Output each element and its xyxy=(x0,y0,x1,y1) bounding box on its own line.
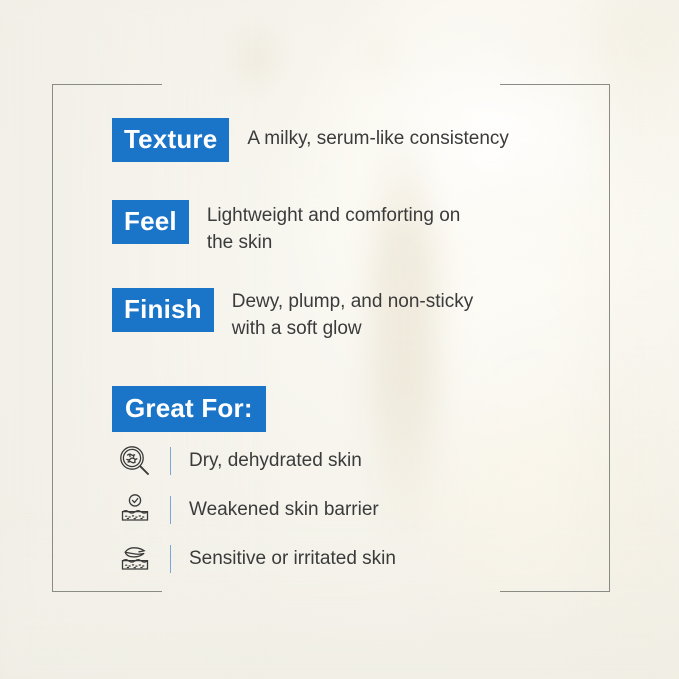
skin-barrier-check-icon xyxy=(112,490,158,530)
great-for-list: Dry, dehydrated skin Weakened skin barri… xyxy=(112,436,532,583)
attribute-badge-finish: Finish xyxy=(112,288,214,332)
list-item-divider xyxy=(170,496,171,524)
sensitive-skin-leaf-icon xyxy=(112,539,158,579)
list-item-label: Dry, dehydrated skin xyxy=(189,449,362,473)
list-item: Sensitive or irritated skin xyxy=(112,534,532,583)
attribute-description-finish: Dewy, plump, and non-sticky with a soft … xyxy=(232,288,473,342)
card-content: Texture A milky, serum-like consistency … xyxy=(0,0,679,679)
list-item-divider xyxy=(170,447,171,475)
attribute-row-finish: Finish Dewy, plump, and non-sticky with … xyxy=(112,288,473,342)
great-for-heading: Great For: xyxy=(112,386,266,432)
attribute-badge-feel: Feel xyxy=(112,200,189,244)
product-benefits-card: Texture A milky, serum-like consistency … xyxy=(0,0,679,679)
list-item: Dry, dehydrated skin xyxy=(112,436,532,485)
attribute-description-texture: A milky, serum-like consistency xyxy=(247,125,509,152)
magnifier-dry-skin-icon xyxy=(112,441,158,481)
attribute-description-feel: Lightweight and comforting on the skin xyxy=(207,202,461,256)
attribute-row-feel: Feel Lightweight and comforting on the s… xyxy=(112,200,460,256)
list-item-label: Sensitive or irritated skin xyxy=(189,547,396,571)
attribute-row-texture: Texture A milky, serum-like consistency xyxy=(112,118,509,162)
list-item-label: Weakened skin barrier xyxy=(189,498,379,522)
list-item: Weakened skin barrier xyxy=(112,485,532,534)
attribute-badge-texture: Texture xyxy=(112,118,229,162)
list-item-divider xyxy=(170,545,171,573)
